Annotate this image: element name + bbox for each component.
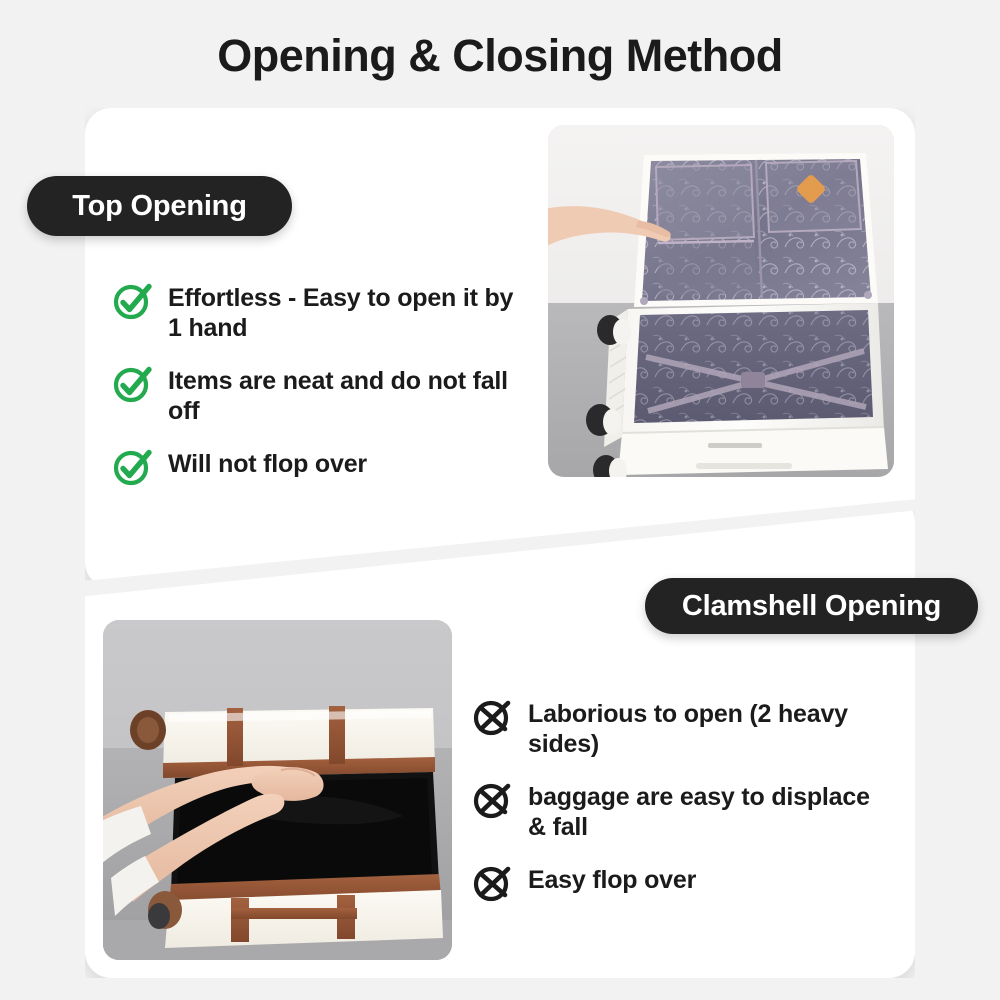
cross-circle-icon xyxy=(472,779,514,821)
top-opening-feature-list: Effortless - Easy to open it by 1 hand I… xyxy=(112,282,532,510)
feature-label: Easy flop over xyxy=(528,864,696,896)
feature-item: Items are neat and do not fall off xyxy=(112,365,532,426)
feature-item: Easy flop over xyxy=(472,864,892,904)
feature-label: Effortless - Easy to open it by 1 hand xyxy=(168,282,532,343)
top-opening-badge: Top Opening xyxy=(27,176,292,236)
feature-item: baggage are easy to displace & fall xyxy=(472,781,892,842)
feature-item: Will not flop over xyxy=(112,448,532,488)
check-circle-icon xyxy=(112,280,154,322)
feature-label: Will not flop over xyxy=(168,448,367,480)
top-opening-suitcase-photo xyxy=(548,125,894,477)
check-circle-icon xyxy=(112,446,154,488)
feature-label: baggage are easy to displace & fall xyxy=(528,781,892,842)
cross-circle-icon xyxy=(472,696,514,738)
page-title: Opening & Closing Method xyxy=(0,30,1000,82)
clamshell-opening-badge: Clamshell Opening xyxy=(645,578,978,634)
feature-label: Items are neat and do not fall off xyxy=(168,365,532,426)
feature-item: Effortless - Easy to open it by 1 hand xyxy=(112,282,532,343)
check-circle-icon xyxy=(112,363,154,405)
clamshell-opening-suitcase-photo xyxy=(103,620,452,960)
feature-label: Laborious to open (2 heavy sides) xyxy=(528,698,892,759)
clamshell-opening-feature-list: Laborious to open (2 heavy sides) baggag… xyxy=(472,698,892,926)
feature-item: Laborious to open (2 heavy sides) xyxy=(472,698,892,759)
cross-circle-icon xyxy=(472,862,514,904)
